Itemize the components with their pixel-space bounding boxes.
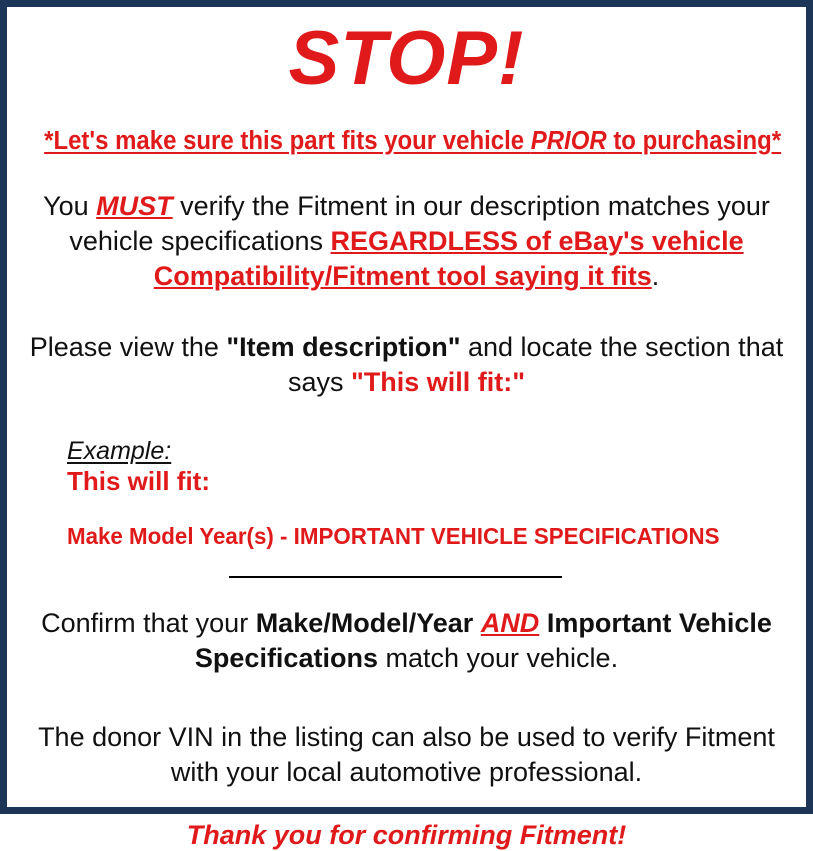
example-label: Example: <box>67 437 171 466</box>
paragraph-view-item-description: Please view the "Item description" and l… <box>21 330 792 400</box>
must-emphasis: MUST <box>96 191 173 221</box>
example-block: Example: This will fit: Make Model Year(… <box>21 437 792 551</box>
paragraph-must-verify: You MUST verify the Fitment in our descr… <box>21 189 792 294</box>
make-model-year-label: Make/Model/Year <box>256 608 474 638</box>
section-divider <box>21 576 792 580</box>
view-text-lead: Please view the <box>30 332 227 362</box>
subtitle-prior-emphasis: PRIOR <box>531 127 607 155</box>
subtitle-text-after: to purchasing* <box>607 127 781 155</box>
item-description-label: "Item description" <box>226 332 460 362</box>
must-text-lead: You <box>43 191 96 221</box>
stop-heading: STOP! <box>21 21 792 97</box>
example-this-will-fit-line: This will fit: <box>67 467 792 497</box>
this-will-fit-label: "This will fit:" <box>351 367 525 397</box>
fitment-notice-card: STOP! *Let's make sure this part fits yo… <box>0 0 813 814</box>
subtitle-text-before: *Let's make sure this part fits your veh… <box>44 127 531 155</box>
and-emphasis: AND <box>481 608 540 638</box>
confirm-text-lead: Confirm that your <box>41 608 256 638</box>
example-label-row: Example: <box>67 437 792 466</box>
confirm-text-end: match your vehicle. <box>378 643 618 673</box>
divider-rule <box>229 576 562 578</box>
must-text-end: . <box>652 261 660 291</box>
paragraph-confirm-match: Confirm that your Make/Model/Year AND Im… <box>21 606 792 676</box>
example-specification-line: Make Model Year(s) - IMPORTANT VEHICLE S… <box>67 523 756 550</box>
subtitle-verify-fitment: *Let's make sure this part fits your veh… <box>44 127 769 155</box>
paragraph-donor-vin: The donor VIN in the listing can also be… <box>21 720 792 790</box>
thank-you-line: Thank you for confirming Fitment! <box>21 819 792 851</box>
